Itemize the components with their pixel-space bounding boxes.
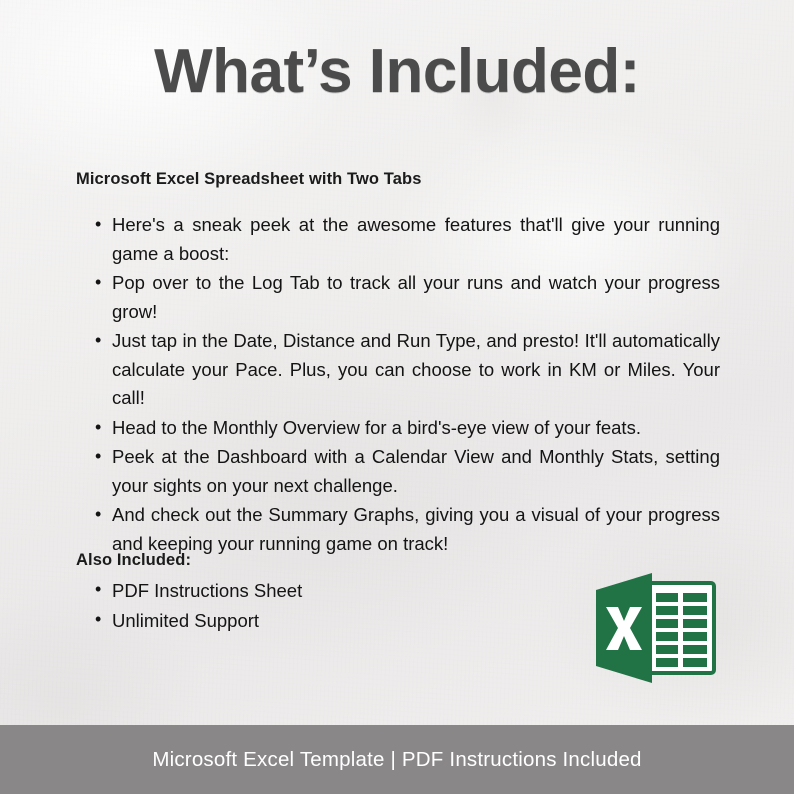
page-title: What’s Included: (0, 33, 794, 111)
list-item: Just tap in the Date, Distance and Run T… (90, 327, 720, 413)
excel-feature-list: Here's a sneak peek at the awesome featu… (90, 211, 720, 559)
also-included-heading: Also Included: (76, 551, 191, 570)
list-item-text: Just tap in the Date, Distance and Run T… (112, 327, 720, 413)
list-item-text: Here's a sneak peek at the awesome featu… (112, 211, 720, 268)
list-item-text: Head to the Monthly Overview for a bird'… (112, 414, 720, 443)
poster-canvas: What’s Included: Microsoft Excel Spreads… (0, 0, 794, 794)
list-item: PDF Instructions Sheet (90, 576, 510, 605)
also-included-list: PDF Instructions Sheet Unlimited Support (90, 576, 510, 636)
list-item-text: Unlimited Support (112, 606, 510, 635)
list-item-text: Peek at the Dashboard with a Calendar Vi… (112, 443, 720, 500)
list-item-text: Pop over to the Log Tab to track all you… (112, 269, 720, 326)
list-item: Pop over to the Log Tab to track all you… (90, 269, 720, 326)
list-item: Head to the Monthly Overview for a bird'… (90, 414, 720, 443)
microsoft-excel-icon (590, 566, 720, 686)
list-item: Unlimited Support (90, 606, 510, 635)
footer-text: Microsoft Excel Template | PDF Instructi… (152, 748, 641, 772)
list-item-text: And check out the Summary Graphs, giving… (112, 501, 720, 558)
list-item: And check out the Summary Graphs, giving… (90, 501, 720, 558)
list-item: Here's a sneak peek at the awesome featu… (90, 211, 720, 268)
footer-banner: Microsoft Excel Template | PDF Instructi… (0, 725, 794, 794)
list-item-text: PDF Instructions Sheet (112, 576, 510, 605)
list-item: Peek at the Dashboard with a Calendar Vi… (90, 443, 720, 500)
excel-section-heading: Microsoft Excel Spreadsheet with Two Tab… (76, 170, 421, 189)
